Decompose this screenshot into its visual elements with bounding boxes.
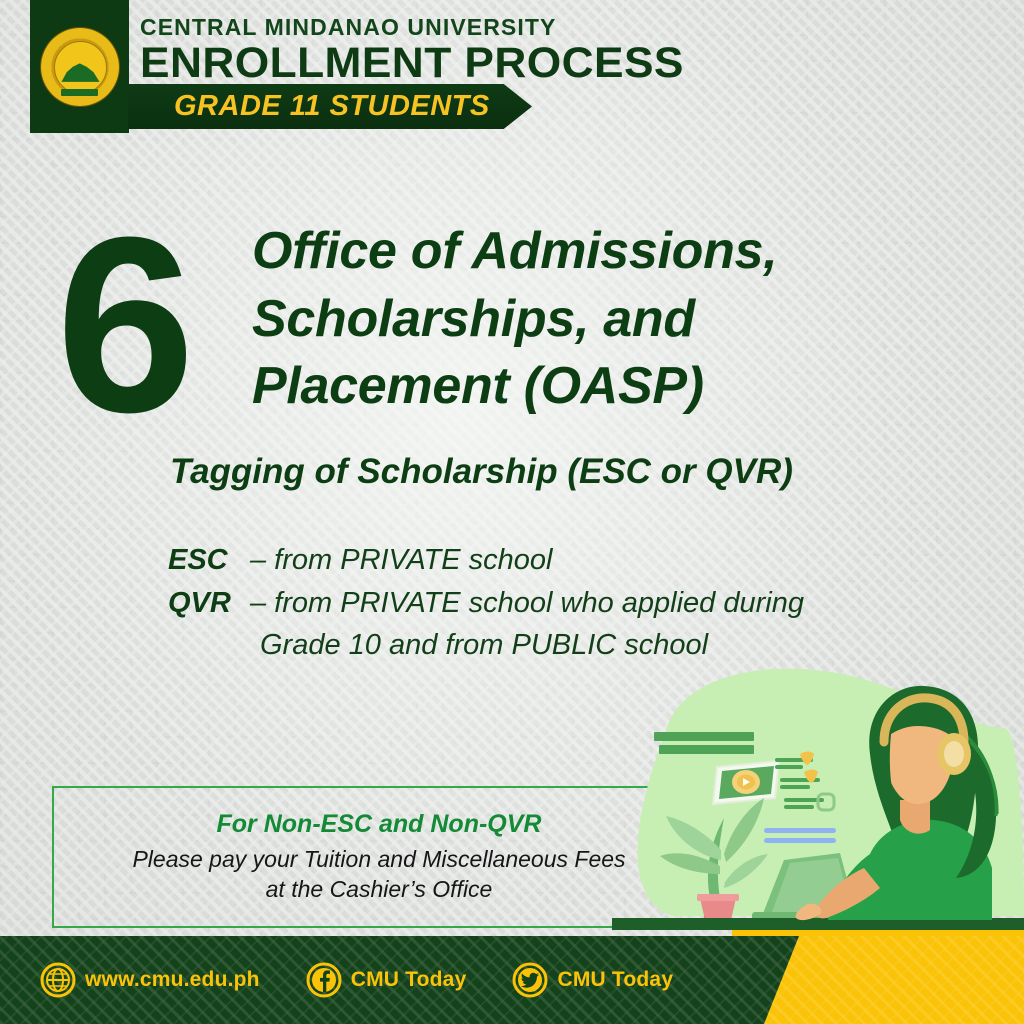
poster-canvas: CENTRAL MINDANAO UNIVERSITY ENROLLMENT P…	[0, 0, 1024, 1024]
header-text-group: CENTRAL MINDANAO UNIVERSITY ENROLLMENT P…	[140, 16, 668, 86]
logo-block	[30, 0, 129, 133]
illustration	[612, 668, 1024, 936]
note-line-2: at the Cashier’s Office	[266, 875, 493, 904]
poster-footer: www.cmu.edu.ph CMU Today	[0, 936, 1024, 1024]
section-subtitle: Tagging of Scholarship (ESC or QVR)	[170, 452, 990, 492]
note-line-1: Please pay your Tuition and Miscellaneou…	[132, 845, 625, 874]
deco-line	[775, 765, 803, 769]
footer-yellow-band	[764, 936, 1024, 1024]
deco-bar	[654, 732, 754, 741]
poster-header: CENTRAL MINDANAO UNIVERSITY ENROLLMENT P…	[0, 0, 1024, 140]
social-label-website: www.cmu.edu.ph	[85, 968, 260, 992]
deco-line-blue	[764, 828, 836, 833]
deco-line-blue	[764, 838, 836, 843]
social-link-twitter[interactable]: CMU Today	[512, 962, 673, 998]
facebook-icon	[306, 962, 342, 998]
note-title: For Non-ESC and Non-QVR	[217, 810, 542, 839]
seal-inner	[54, 41, 107, 94]
deco-bar	[659, 745, 754, 754]
definition-key: ESC	[168, 540, 250, 581]
seal-mountain	[61, 60, 99, 82]
definition-list: ESC – from PRIVATE school QVR – from PRI…	[168, 540, 958, 666]
cmu-seal-icon	[41, 28, 119, 106]
deco-line	[784, 805, 814, 809]
illustration-svg	[612, 668, 1024, 936]
deco-line	[780, 785, 810, 789]
grade-banner-label: GRADE 11 STUDENTS	[174, 90, 490, 123]
definition-key: QVR	[168, 583, 250, 624]
grade-banner: GRADE 11 STUDENTS	[128, 84, 532, 129]
media-card	[713, 761, 779, 804]
social-links: www.cmu.edu.ph CMU Today	[40, 936, 673, 1024]
social-label-twitter: CMU Today	[557, 968, 673, 992]
plant-pot	[700, 898, 736, 920]
social-link-website[interactable]: www.cmu.edu.ph	[40, 962, 260, 998]
note-box: For Non-ESC and Non-QVR Please pay your …	[52, 786, 706, 928]
seal-base	[61, 89, 98, 96]
university-name: CENTRAL MINDANAO UNIVERSITY	[140, 16, 668, 39]
step-number: 6	[56, 200, 195, 450]
social-label-facebook: CMU Today	[351, 968, 467, 992]
page-title: ENROLLMENT PROCESS	[140, 42, 684, 86]
list-item: QVR – from PRIVATE school who applied du…	[168, 583, 958, 624]
definition-value: – from PRIVATE school who applied during	[250, 583, 804, 624]
office-title: Office of Admissions, Scholarships, and …	[252, 218, 952, 421]
social-link-facebook[interactable]: CMU Today	[306, 962, 467, 998]
definition-value-continued: Grade 10 and from PUBLIC school	[260, 625, 958, 666]
list-item: ESC – from PRIVATE school	[168, 540, 958, 581]
definition-value: – from PRIVATE school	[250, 540, 552, 581]
twitter-icon	[512, 962, 548, 998]
globe-icon	[40, 962, 76, 998]
